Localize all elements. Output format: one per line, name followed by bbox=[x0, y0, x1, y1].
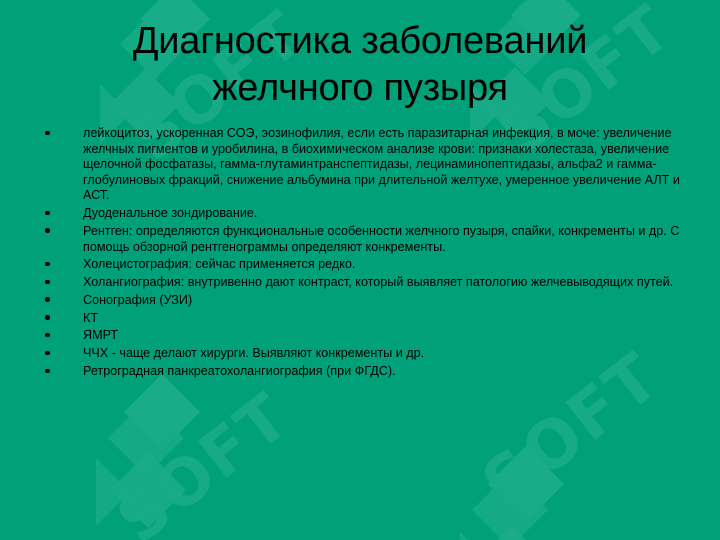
list-item: лейкоцитоз, ускоренная СОЭ, эозинофилия,… bbox=[38, 126, 688, 204]
bullet-point-icon bbox=[45, 228, 50, 233]
list-item: Холангиография: внутривенно дают контрас… bbox=[38, 275, 688, 291]
bullet-point-icon bbox=[45, 211, 50, 216]
list-item: Сонография (УЗИ) bbox=[38, 293, 688, 309]
slide-title: Диагностика заболеваний желчного пузыря bbox=[36, 18, 684, 112]
list-item: КТ bbox=[38, 311, 688, 327]
list-item: Рентген: определяются функциональные осо… bbox=[38, 224, 688, 255]
bullet-point-icon bbox=[45, 262, 50, 267]
bullet-point-icon bbox=[45, 131, 50, 136]
list-item: Ретроградная панкреатохолангиография (пр… bbox=[38, 364, 688, 380]
list-item-label: КТ bbox=[83, 311, 688, 327]
list-item: ЯМРТ bbox=[38, 328, 688, 344]
slide-content: лейкоцитоз, ускоренная СОЭ, эозинофилия,… bbox=[38, 126, 688, 382]
brand-logo-watermark-icon bbox=[452, 440, 612, 540]
presentation-slide: SOFT SOFT SOFT bbox=[0, 0, 720, 540]
bullet-point-icon bbox=[45, 351, 50, 356]
list-item-label: Ретроградная панкреатохолангиография (пр… bbox=[83, 364, 688, 380]
list-item-label: Сонография (УЗИ) bbox=[83, 293, 688, 309]
list-item-label: Рентген: определяются функциональные осо… bbox=[83, 224, 688, 255]
bullet-point-icon bbox=[45, 315, 50, 320]
watermark-text: SOFT bbox=[104, 379, 304, 540]
list-item: Дуоденальное зондирование. bbox=[38, 206, 688, 222]
slide-title-line-1: Диагностика заболеваний bbox=[36, 18, 684, 65]
bullet-point-icon bbox=[45, 333, 50, 338]
bullet-list: лейкоцитоз, ускоренная СОЭ, эозинофилия,… bbox=[38, 126, 688, 380]
list-item-label: Холецистография: сейчас применяется редк… bbox=[83, 257, 688, 273]
list-item-label: Дуоденальное зондирование. bbox=[83, 206, 688, 222]
bullet-point-icon bbox=[45, 280, 50, 285]
list-item: Холецистография: сейчас применяется редк… bbox=[38, 257, 688, 273]
list-item-label: Холангиография: внутривенно дают контрас… bbox=[83, 275, 688, 291]
list-item: ЧЧХ - чаще делают хирурги. Выявляют конк… bbox=[38, 346, 688, 362]
list-item-label: ЯМРТ bbox=[83, 328, 688, 344]
brand-logo-watermark-icon bbox=[90, 370, 250, 540]
bullet-point-icon bbox=[45, 369, 50, 374]
bullet-point-icon bbox=[45, 297, 50, 302]
list-item-label: ЧЧХ - чаще делают хирурги. Выявляют конк… bbox=[83, 346, 688, 362]
slide-title-line-2: желчного пузыря bbox=[36, 65, 684, 112]
list-item-label: лейкоцитоз, ускоренная СОЭ, эозинофилия,… bbox=[83, 126, 688, 204]
